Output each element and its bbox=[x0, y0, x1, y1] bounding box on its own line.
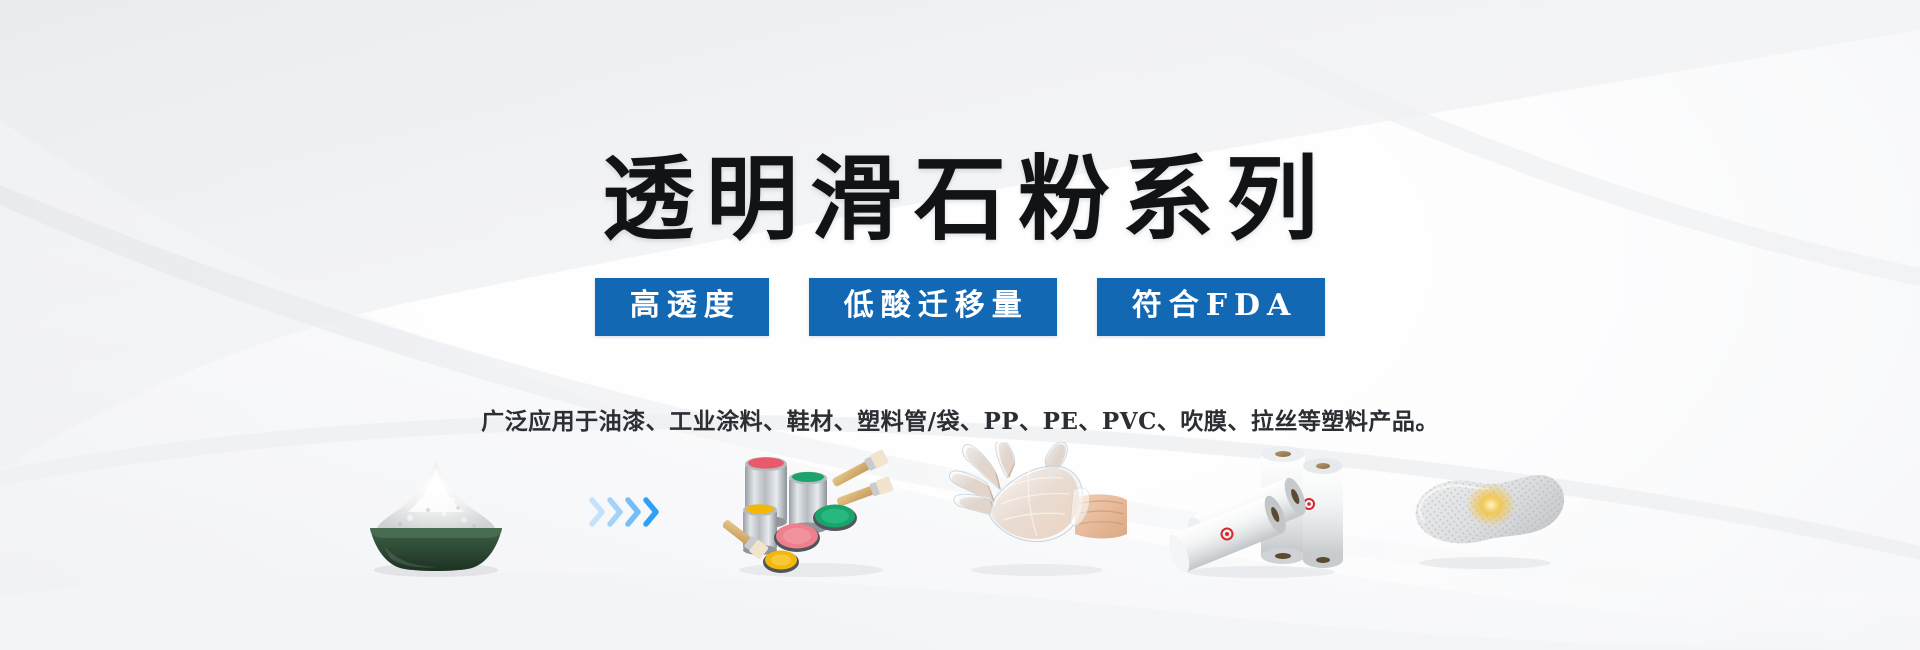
product-banner: 透明滑石粉系列 高透度 低酸迁移量 符合FDA 广泛应用于油漆、工业涂料、鞋材、… bbox=[0, 0, 1920, 650]
image-paint-cans bbox=[718, 437, 908, 587]
image-film-rolls bbox=[1166, 437, 1356, 587]
film-rolls-icon bbox=[1169, 442, 1354, 582]
feature-badge-fda-compliant[interactable]: 符合FDA bbox=[1097, 278, 1326, 336]
chevron-right-icon bbox=[589, 497, 606, 527]
page-title: 透明滑石粉系列 bbox=[0, 150, 1920, 249]
chevron-right-icon bbox=[643, 497, 660, 527]
chevron-right-icon bbox=[607, 497, 624, 527]
image-plastic-glove bbox=[942, 437, 1132, 587]
feature-badge-low-acid-migration[interactable]: 低酸迁移量 bbox=[809, 278, 1057, 336]
feature-badge-transparency[interactable]: 高透度 bbox=[595, 278, 769, 336]
film-roll-right bbox=[1303, 458, 1343, 568]
feature-badge-list: 高透度 低酸迁移量 符合FDA bbox=[0, 278, 1920, 336]
image-talc-powder-bowl bbox=[340, 437, 530, 587]
process-arrows bbox=[564, 437, 684, 587]
talc-bowl-icon bbox=[340, 442, 530, 582]
image-shoe-sole bbox=[1390, 437, 1580, 587]
plastic-glove-icon bbox=[945, 442, 1130, 582]
shoe-sole-icon bbox=[1395, 447, 1575, 577]
product-application-strip bbox=[0, 432, 1920, 592]
sole-glow-highlight bbox=[1466, 483, 1516, 527]
application-description: 广泛应用于油漆、工业涂料、鞋材、塑料管/袋、PP、PE、PVC、吹膜、拉丝等塑料… bbox=[0, 402, 1920, 436]
chevron-right-icon bbox=[625, 497, 642, 527]
paint-cans-icon bbox=[723, 442, 903, 582]
chevron-row bbox=[589, 497, 660, 527]
glove-film bbox=[949, 442, 1089, 542]
banner-content: 透明滑石粉系列 高透度 低酸迁移量 符合FDA 广泛应用于油漆、工业涂料、鞋材、… bbox=[0, 0, 1920, 650]
